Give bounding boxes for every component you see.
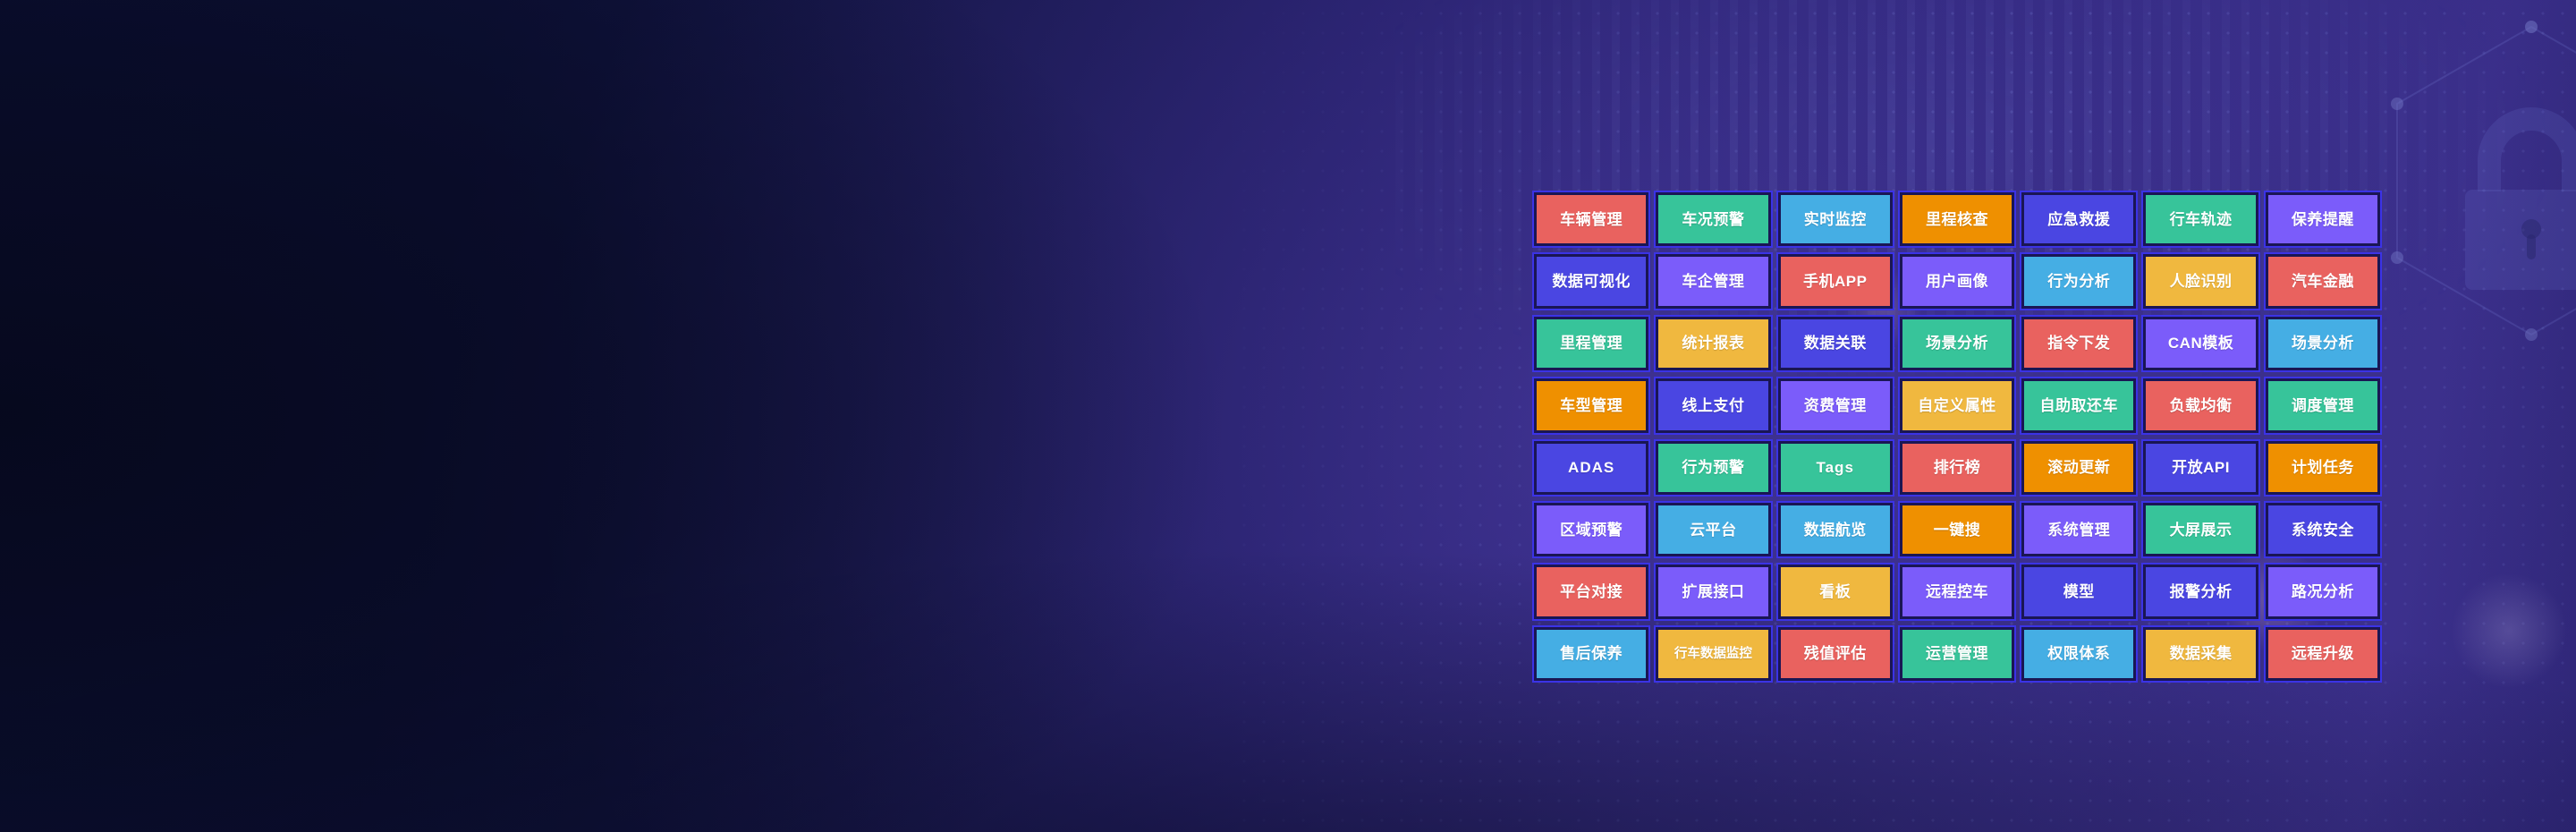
feature-tile-label: 场景分析	[1926, 335, 1988, 351]
feature-tile-label: 系统安全	[2292, 522, 2354, 538]
feature-tile-label: 数据采集	[2170, 646, 2233, 661]
feature-tile-face: 人脸识别	[2146, 257, 2255, 305]
screen-canvas: 车辆管理车况预警实时监控里程核查应急救援行车轨迹保养提醒数据可视化车企管理手机A…	[0, 0, 2576, 832]
feature-tile[interactable]: 计划任务	[2264, 439, 2382, 497]
feature-tile-face: 指令下发	[2024, 319, 2133, 368]
feature-tile-label: 数据关联	[1804, 335, 1867, 351]
feature-tile-face: 行车数据监控	[1658, 630, 1767, 678]
feature-tile-label: 扩展接口	[1682, 584, 1744, 599]
feature-tile[interactable]: 行车数据监控	[1654, 625, 1772, 683]
feature-tile-label: 滚动更新	[2047, 460, 2110, 475]
feature-tile-label: 数据航览	[1804, 522, 1867, 538]
feature-tile-label: 里程管理	[1560, 335, 1623, 351]
feature-tile-face: 汽车金融	[2268, 257, 2377, 305]
feature-tile-face: 系统管理	[2024, 505, 2133, 554]
feature-tile-face: 大屏展示	[2146, 505, 2255, 554]
feature-tile-face: 远程升级	[2268, 630, 2377, 678]
feature-tile-face: 车辆管理	[1537, 195, 1646, 243]
feature-tile[interactable]: 场景分析	[2264, 315, 2382, 372]
feature-tile-face: 售后保养	[1537, 630, 1646, 678]
feature-tile-label: 场景分析	[2292, 335, 2354, 351]
feature-tile[interactable]: 一键搜	[1898, 501, 2016, 558]
feature-tile[interactable]: 线上支付	[1654, 377, 1772, 434]
feature-tile[interactable]: 数据采集	[2141, 625, 2259, 683]
feature-tile[interactable]: 实时监控	[1776, 191, 1894, 248]
feature-tile-label: 行车数据监控	[1674, 648, 1752, 661]
feature-tile[interactable]: 自助取还车	[2020, 377, 2138, 434]
feature-tile[interactable]: 系统安全	[2264, 501, 2382, 558]
feature-tile[interactable]: 手机APP	[1776, 252, 1894, 310]
feature-tile[interactable]: 里程管理	[1532, 315, 1650, 372]
feature-tile-face: 数据可视化	[1537, 257, 1646, 305]
feature-tile-label: 实时监控	[1804, 212, 1867, 227]
feature-tile[interactable]: 人脸识别	[2141, 252, 2259, 310]
feature-tile-grid: 车辆管理车况预警实时监控里程核查应急救援行车轨迹保养提醒数据可视化车企管理手机A…	[1532, 191, 2382, 683]
feature-tile-label: 调度管理	[2292, 398, 2354, 413]
feature-tile-face: 报警分析	[2146, 567, 2255, 616]
feature-tile[interactable]: 统计报表	[1654, 315, 1772, 372]
feature-tile-face: 数据航览	[1781, 505, 1890, 554]
feature-tile-face: 滚动更新	[2024, 444, 2133, 492]
feature-tile-face: 行车轨迹	[2146, 195, 2255, 243]
feature-tile[interactable]: 车辆管理	[1532, 191, 1650, 248]
feature-tile[interactable]: 云平台	[1654, 501, 1772, 558]
feature-tile[interactable]: 模型	[2020, 563, 2138, 620]
feature-tile-face: 扩展接口	[1658, 567, 1767, 616]
feature-tile-label: 车辆管理	[1560, 212, 1623, 227]
feature-tile-label: 资费管理	[1804, 398, 1867, 413]
feature-tile-label: 残值评估	[1804, 646, 1867, 661]
feature-tile-face: 路况分析	[2268, 567, 2377, 616]
feature-tile-label: 统计报表	[1682, 335, 1744, 351]
feature-tile-label: 大屏展示	[2170, 522, 2233, 538]
feature-tile-label: 云平台	[1690, 522, 1737, 538]
feature-tile-face: 行为预警	[1658, 444, 1767, 492]
feature-tile-label: 路况分析	[2292, 584, 2354, 599]
feature-tile[interactable]: 自定义属性	[1898, 377, 2016, 434]
feature-tile-label: 远程升级	[2292, 646, 2354, 661]
feature-tile-face: 统计报表	[1658, 319, 1767, 368]
feature-tile-face: 手机APP	[1781, 257, 1890, 305]
feature-tile-label: 区域预警	[1560, 522, 1623, 538]
feature-tile-label: 系统管理	[2047, 522, 2110, 538]
feature-tile-face: 一键搜	[1902, 505, 2012, 554]
feature-tile[interactable]: 排行榜	[1898, 439, 2016, 497]
feature-tile-face: 残值评估	[1781, 630, 1890, 678]
feature-tile-face: 计划任务	[2268, 444, 2377, 492]
feature-tile-label: 指令下发	[2047, 335, 2110, 351]
feature-tile-face: ADAS	[1537, 444, 1646, 492]
feature-tile-label: 行车轨迹	[2170, 212, 2233, 227]
feature-tile-label: 排行榜	[1934, 460, 1981, 475]
feature-tile[interactable]: 指令下发	[2020, 315, 2138, 372]
feature-tile[interactable]: 行为预警	[1654, 439, 1772, 497]
feature-tile-face: 模型	[2024, 567, 2133, 616]
feature-tile[interactable]: 保养提醒	[2264, 191, 2382, 248]
feature-tile-label: 汽车金融	[2292, 274, 2354, 289]
feature-tile-face: 行为分析	[2024, 257, 2133, 305]
feature-tile[interactable]: 开放API	[2141, 439, 2259, 497]
feature-tile-face: 数据采集	[2146, 630, 2255, 678]
feature-tile[interactable]: 里程核查	[1898, 191, 2016, 248]
feature-tile-face: 场景分析	[2268, 319, 2377, 368]
feature-tile-face: 里程核查	[1902, 195, 2012, 243]
feature-tile[interactable]: 数据可视化	[1532, 252, 1650, 310]
feature-tile[interactable]: Tags	[1776, 439, 1894, 497]
feature-tile-face: 车型管理	[1537, 381, 1646, 429]
feature-tile[interactable]: 车企管理	[1654, 252, 1772, 310]
feature-tile-label: CAN模板	[2168, 335, 2233, 351]
feature-tile-label: 权限体系	[2047, 646, 2110, 661]
feature-tile-face: 负载均衡	[2146, 381, 2255, 429]
feature-tile-label: 车型管理	[1560, 398, 1623, 413]
feature-tile[interactable]: CAN模板	[2141, 315, 2259, 372]
feature-tile[interactable]: 资费管理	[1776, 377, 1894, 434]
feature-tile-face: 开放API	[2146, 444, 2255, 492]
feature-tile-label: 自助取还车	[2040, 398, 2119, 413]
feature-tile[interactable]: 系统管理	[2020, 501, 2138, 558]
feature-tile[interactable]: 残值评估	[1776, 625, 1894, 683]
feature-tile[interactable]: 路况分析	[2264, 563, 2382, 620]
feature-tile[interactable]: 行为分析	[2020, 252, 2138, 310]
feature-tile-face: 保养提醒	[2268, 195, 2377, 243]
feature-tile[interactable]: 平台对接	[1532, 563, 1650, 620]
feature-tile-face: Tags	[1781, 444, 1890, 492]
feature-tile-face: 运营管理	[1902, 630, 2012, 678]
feature-tile[interactable]: 大屏展示	[2141, 501, 2259, 558]
feature-tile-label: 行为预警	[1682, 460, 1744, 475]
feature-tile-face: 自助取还车	[2024, 381, 2133, 429]
feature-tile[interactable]: 权限体系	[2020, 625, 2138, 683]
feature-tile-face: 看板	[1781, 567, 1890, 616]
feature-tile-face: 区域预警	[1537, 505, 1646, 554]
feature-tile-face: 车企管理	[1658, 257, 1767, 305]
feature-tile[interactable]: 运营管理	[1898, 625, 2016, 683]
bokeh-glow-large	[2451, 573, 2567, 689]
feature-tile[interactable]: 场景分析	[1898, 315, 2016, 372]
feature-tile[interactable]: 远程升级	[2264, 625, 2382, 683]
feature-tile[interactable]: 滚动更新	[2020, 439, 2138, 497]
feature-tile[interactable]: 汽车金融	[2264, 252, 2382, 310]
feature-tile-label: 看板	[1819, 584, 1851, 599]
feature-tile-label: 一键搜	[1934, 522, 1981, 538]
feature-tile-label: 线上支付	[1682, 398, 1744, 413]
feature-tile-label: 用户画像	[1926, 274, 1988, 289]
feature-tile-label: 手机APP	[1803, 274, 1867, 289]
feature-tile[interactable]: ADAS	[1532, 439, 1650, 497]
feature-tile-face: 场景分析	[1902, 319, 2012, 368]
feature-tile-label: 数据可视化	[1552, 274, 1631, 289]
feature-tile-label: 远程控车	[1926, 584, 1988, 599]
feature-tile[interactable]: 车况预警	[1654, 191, 1772, 248]
feature-tile-face: 资费管理	[1781, 381, 1890, 429]
feature-tile[interactable]: 车型管理	[1532, 377, 1650, 434]
feature-tile-label: 人脸识别	[2170, 274, 2233, 289]
feature-tile[interactable]: 行车轨迹	[2141, 191, 2259, 248]
feature-tile-label: 保养提醒	[2292, 212, 2354, 227]
feature-tile-face: 用户画像	[1902, 257, 2012, 305]
feature-tile-label: 自定义属性	[1918, 398, 1996, 413]
feature-tile[interactable]: 扩展接口	[1654, 563, 1772, 620]
feature-tile-label: 应急救援	[2047, 212, 2110, 227]
feature-tile-label: 运营管理	[1926, 646, 1988, 661]
feature-tile-label: 开放API	[2172, 460, 2230, 475]
feature-tile[interactable]: 数据航览	[1776, 501, 1894, 558]
feature-tile[interactable]: 用户画像	[1898, 252, 2016, 310]
feature-tile-face: 远程控车	[1902, 567, 2012, 616]
feature-tile-face: 自定义属性	[1902, 381, 2012, 429]
feature-tile-label: 平台对接	[1560, 584, 1623, 599]
feature-tile-face: 线上支付	[1658, 381, 1767, 429]
feature-tile[interactable]: 数据关联	[1776, 315, 1894, 372]
feature-tile-face: 车况预警	[1658, 195, 1767, 243]
feature-tile-face: 平台对接	[1537, 567, 1646, 616]
feature-tile-label: 车况预警	[1682, 212, 1744, 227]
feature-tile-label: 车企管理	[1682, 274, 1744, 289]
feature-tile-face: 调度管理	[2268, 381, 2377, 429]
feature-tile[interactable]: 远程控车	[1898, 563, 2016, 620]
feature-tile[interactable]: 看板	[1776, 563, 1894, 620]
feature-tile-face: CAN模板	[2146, 319, 2255, 368]
feature-tile[interactable]: 报警分析	[2141, 563, 2259, 620]
feature-tile-face: 云平台	[1658, 505, 1767, 554]
feature-tile-face: 系统安全	[2268, 505, 2377, 554]
feature-tile[interactable]: 调度管理	[2264, 377, 2382, 434]
feature-tile-face: 里程管理	[1537, 319, 1646, 368]
feature-tile-label: Tags	[1816, 460, 1853, 475]
feature-tile-face: 数据关联	[1781, 319, 1890, 368]
feature-tile-label: 售后保养	[1560, 646, 1623, 661]
feature-tile-face: 应急救援	[2024, 195, 2133, 243]
feature-tile[interactable]: 区域预警	[1532, 501, 1650, 558]
feature-tile-label: 模型	[2063, 584, 2095, 599]
feature-tile-label: 报警分析	[2170, 584, 2233, 599]
feature-tile-face: 实时监控	[1781, 195, 1890, 243]
feature-tile-label: ADAS	[1568, 460, 1614, 475]
feature-tile[interactable]: 负载均衡	[2141, 377, 2259, 434]
feature-tile-label: 里程核查	[1926, 212, 1988, 227]
feature-tile-label: 行为分析	[2047, 274, 2110, 289]
feature-tile[interactable]: 售后保养	[1532, 625, 1650, 683]
feature-tile[interactable]: 应急救援	[2020, 191, 2138, 248]
feature-tile-label: 负载均衡	[2170, 398, 2233, 413]
feature-tile-face: 权限体系	[2024, 630, 2133, 678]
feature-tile-face: 排行榜	[1902, 444, 2012, 492]
feature-tile-label: 计划任务	[2292, 460, 2354, 475]
